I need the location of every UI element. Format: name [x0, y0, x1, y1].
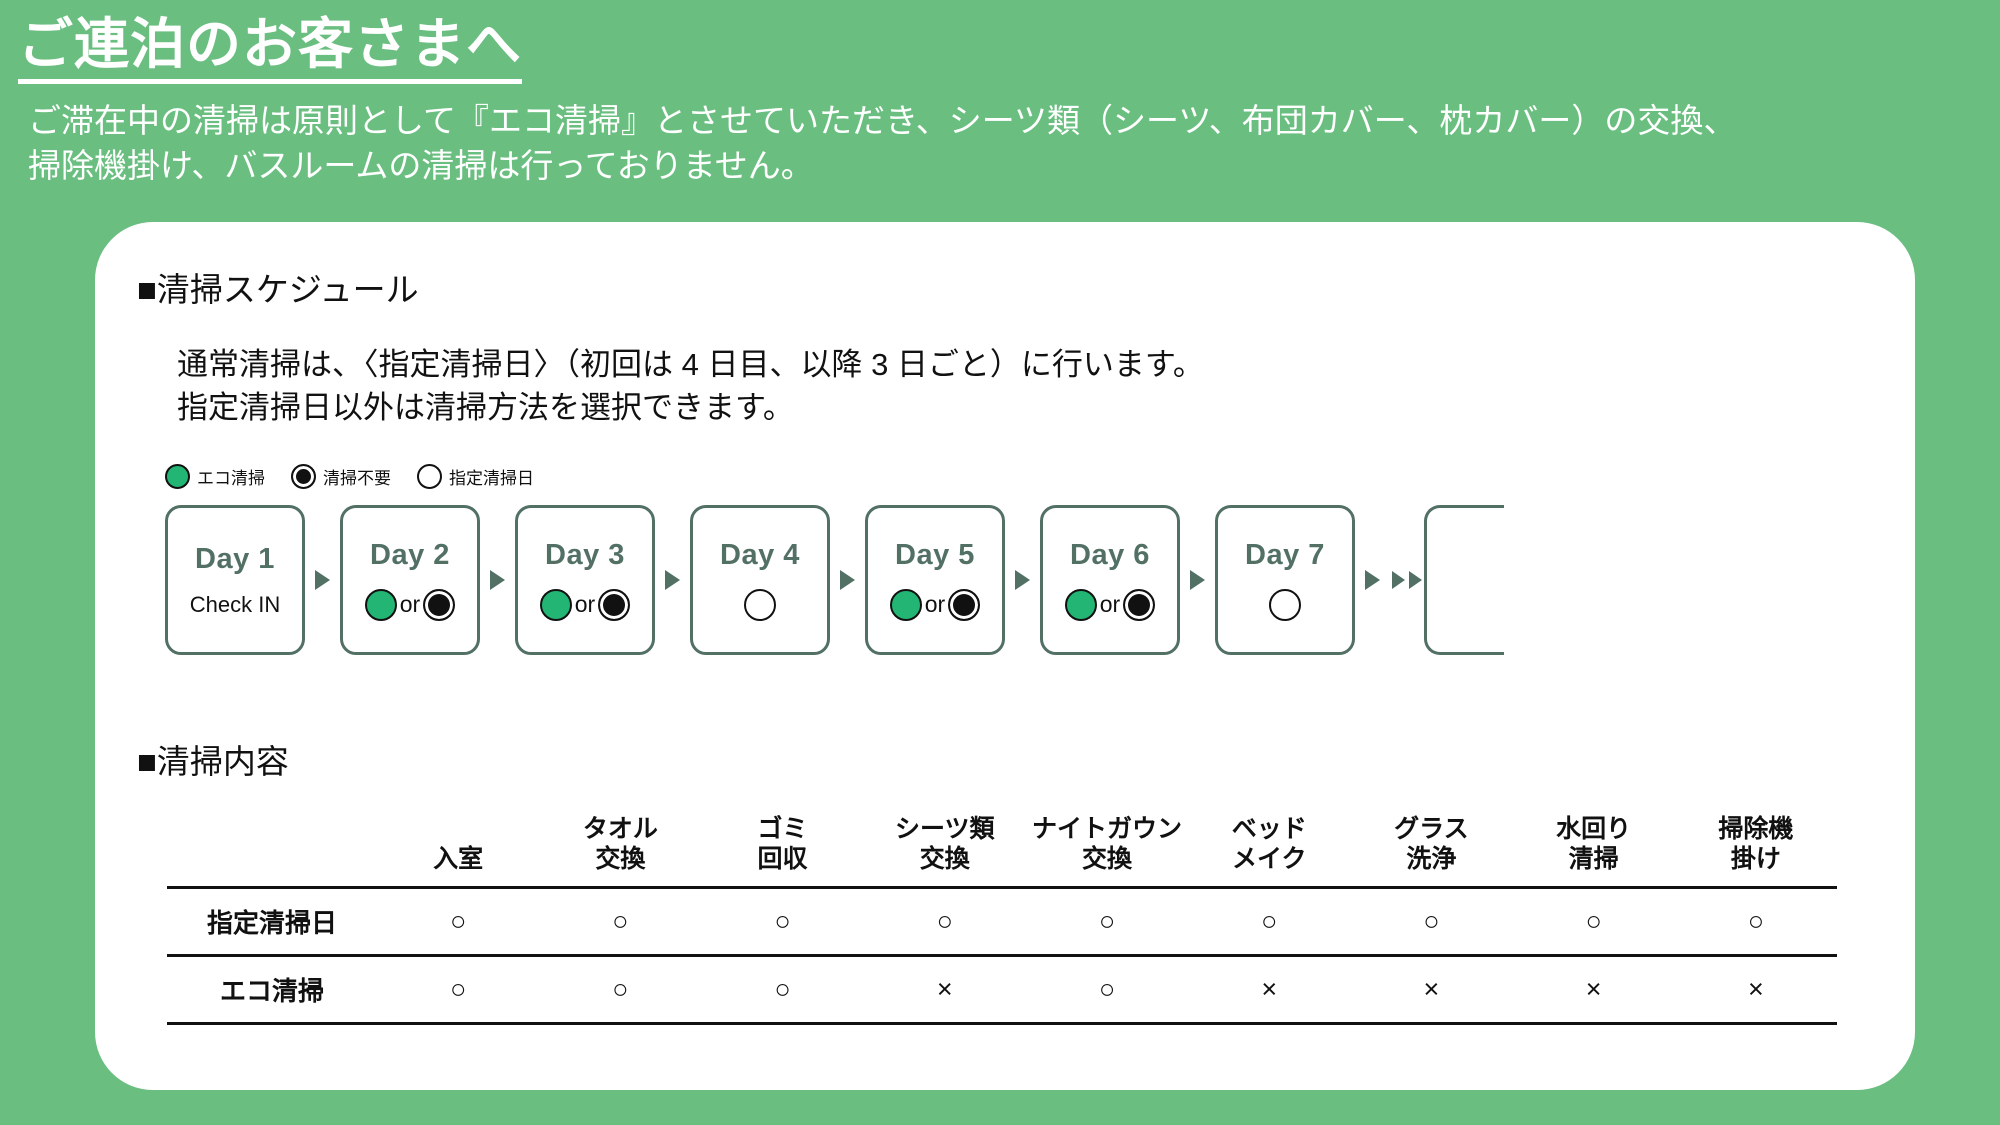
table-cell-no: × [1675, 956, 1837, 1024]
table-column-header-top: 掃除機 [1675, 815, 1837, 845]
day-card-label: Day 1 [195, 543, 275, 576]
day-card-markers [744, 588, 776, 622]
legend-item-fixed: 指定清掃日 [417, 464, 534, 489]
table-column-header-top: 入室 [377, 845, 539, 875]
table-column-header-top: シーツ類 [864, 815, 1026, 845]
table-body: 指定清掃日○○○○○○○○○エコ清掃○○○×○×××× [167, 888, 1837, 1024]
schedule-legend: エコ清掃清掃不要指定清掃日 [165, 464, 534, 489]
table-cell-yes: ○ [1513, 888, 1675, 956]
fixed-clean-circle-icon [417, 464, 442, 489]
eco-clean-circle-icon [540, 589, 572, 621]
table-header-row: 入室タオル交換ゴミ回収シーツ類交換ナイトガウン交換ベッドメイクグラス洗浄水回り清… [167, 800, 1837, 888]
header-description: ご滞在中の清掃は原則として『エコ清掃』とさせていただき、シーツ類（シーツ、布団カ… [28, 98, 2000, 189]
day-card-3: Day 3or [515, 505, 655, 655]
table-corner-cell [167, 800, 377, 888]
day-card-label: Day 7 [1245, 539, 1325, 572]
day-card-markers: or [1065, 588, 1155, 622]
table-row: 指定清掃日○○○○○○○○○ [167, 888, 1837, 956]
table-column-header-bottom: 交換 [539, 845, 701, 875]
day-card-1: Day 1Check IN [165, 505, 305, 655]
table-column-header-bottom: 交換 [864, 845, 1026, 875]
info-panel: ■清掃スケジュール 通常清掃は、〈指定清掃日〉（初回は 4 日目、以降 3 日ご… [95, 222, 1915, 1090]
table-column-header: シーツ類交換 [864, 800, 1026, 888]
or-separator-label: or [400, 591, 420, 618]
table-cell-yes: ○ [1350, 888, 1512, 956]
day-card-sublabel: Check IN [190, 592, 280, 618]
day-card-markers: or [890, 588, 980, 622]
day-card-5: Day 5or [865, 505, 1005, 655]
table-cell-yes: ○ [701, 888, 863, 956]
table-column-header-bottom: 清掃 [1513, 845, 1675, 875]
day-card-continuation [1424, 505, 1504, 655]
table-column-header: グラス洗浄 [1350, 800, 1512, 888]
eco-clean-circle-icon [165, 464, 190, 489]
table-cell-yes: ○ [1026, 888, 1188, 956]
table-column-header: ゴミ回収 [701, 800, 863, 888]
no-clean-circle-icon [1123, 589, 1155, 621]
no-clean-circle-icon [423, 589, 455, 621]
header-band: ご連泊のお客さまへ ご滞在中の清掃は原則として『エコ清掃』とさせていただき、シー… [0, 0, 2000, 189]
cleaning-content-table: 入室タオル交換ゴミ回収シーツ類交換ナイトガウン交換ベッドメイクグラス洗浄水回り清… [167, 800, 1837, 1025]
table-cell-no: × [1350, 956, 1512, 1024]
day-card-markers: or [365, 588, 455, 622]
day-card-markers [1269, 588, 1301, 622]
table-column-header-bottom: メイク [1188, 845, 1350, 875]
flow-arrow-icon [1190, 570, 1205, 590]
table-cell-yes: ○ [1188, 888, 1350, 956]
day-card-label: Day 4 [720, 539, 800, 572]
legend-item-label: エコ清掃 [197, 464, 265, 489]
fixed-clean-circle-icon [744, 589, 776, 621]
or-separator-label: or [575, 591, 595, 618]
day-card-label: Day 2 [370, 539, 450, 572]
schedule-section-heading: ■清掃スケジュール [137, 270, 419, 310]
table-column-header-top: タオル [539, 815, 701, 845]
flow-arrow-icon [315, 570, 330, 590]
table-column-header: 掃除機掛け [1675, 800, 1837, 888]
flow-arrow-icon [1015, 570, 1030, 590]
table-cell-yes: ○ [539, 888, 701, 956]
legend-item-label: 指定清掃日 [449, 464, 534, 489]
table-cell-no: × [864, 956, 1026, 1024]
table-column-header-bottom: 洗浄 [1350, 845, 1512, 875]
table-row: エコ清掃○○○×○×××× [167, 956, 1837, 1024]
table-column-header: ナイトガウン交換 [1026, 800, 1188, 888]
no-clean-circle-icon [598, 589, 630, 621]
table-header: 入室タオル交換ゴミ回収シーツ類交換ナイトガウン交換ベッドメイクグラス洗浄水回り清… [167, 800, 1837, 888]
table-column-header-top: ナイトガウン [1026, 815, 1188, 845]
day-card-markers: or [540, 588, 630, 622]
day-timeline: Day 1Check INDay 2orDay 3orDay 4Day 5orD… [165, 505, 1504, 655]
table-column-header: 入室 [377, 800, 539, 888]
table-column-header-top: 水回り [1513, 815, 1675, 845]
table-cell-yes: ○ [1026, 956, 1188, 1024]
eco-clean-circle-icon [890, 589, 922, 621]
schedule-note-line2: 指定清掃日以外は清掃方法を選択できます。 [177, 387, 1204, 430]
table-cell-yes: ○ [377, 888, 539, 956]
flow-arrow-icon [1409, 571, 1422, 589]
legend-item-none: 清掃不要 [291, 464, 391, 489]
legend-item-label: 清掃不要 [323, 464, 391, 489]
flow-arrow-icon [1392, 571, 1405, 589]
fixed-clean-circle-icon [1269, 589, 1301, 621]
eco-clean-circle-icon [365, 589, 397, 621]
table-column-header-bottom: 掛け [1675, 845, 1837, 875]
table-column-header: ベッドメイク [1188, 800, 1350, 888]
eco-clean-circle-icon [1065, 589, 1097, 621]
table-column-header-top: ベッド [1188, 815, 1350, 845]
table-column-header-top: ゴミ [701, 815, 863, 845]
or-separator-label: or [1100, 591, 1120, 618]
schedule-note: 通常清掃は、〈指定清掃日〉（初回は 4 日目、以降 3 日ごと）に行います。 指… [177, 344, 1204, 430]
legend-item-eco: エコ清掃 [165, 464, 265, 489]
day-card-label: Day 5 [895, 539, 975, 572]
table-cell-yes: ○ [864, 888, 1026, 956]
day-card-2: Day 2or [340, 505, 480, 655]
day-card-6: Day 6or [1040, 505, 1180, 655]
flow-arrow-icon [665, 570, 680, 590]
flow-arrow-icon [1365, 570, 1380, 590]
day-card-7: Day 7 [1215, 505, 1355, 655]
table-cell-no: × [1188, 956, 1350, 1024]
no-clean-circle-icon [948, 589, 980, 621]
header-description-line2: 掃除機掛け、バスルームの清掃は行っておりません。 [28, 143, 2000, 189]
day-card-label: Day 3 [545, 539, 625, 572]
page-title: ご連泊のお客さまへ [18, 14, 522, 84]
day-card-4: Day 4 [690, 505, 830, 655]
or-separator-label: or [925, 591, 945, 618]
flow-arrow-icon [490, 570, 505, 590]
flow-arrow-icon [840, 570, 855, 590]
content-section-heading: ■清掃内容 [137, 742, 289, 782]
table-row-label: エコ清掃 [167, 956, 377, 1024]
no-clean-circle-icon [291, 464, 316, 489]
table-column-header-bottom: 回収 [701, 845, 863, 875]
table-column-header-top: グラス [1350, 815, 1512, 845]
day-card-label: Day 6 [1070, 539, 1150, 572]
table-cell-no: × [1513, 956, 1675, 1024]
table-cell-yes: ○ [539, 956, 701, 1024]
table-cell-yes: ○ [377, 956, 539, 1024]
table-row-label: 指定清掃日 [167, 888, 377, 956]
table-cell-yes: ○ [1675, 888, 1837, 956]
table-cell-yes: ○ [701, 956, 863, 1024]
header-description-line1: ご滞在中の清掃は原則として『エコ清掃』とさせていただき、シーツ類（シーツ、布団カ… [28, 102, 1736, 139]
table-column-header: タオル交換 [539, 800, 701, 888]
table-column-header: 水回り清掃 [1513, 800, 1675, 888]
schedule-note-line1: 通常清掃は、〈指定清掃日〉（初回は 4 日目、以降 3 日ごと）に行います。 [177, 344, 1204, 387]
table-column-header-bottom: 交換 [1026, 845, 1188, 875]
